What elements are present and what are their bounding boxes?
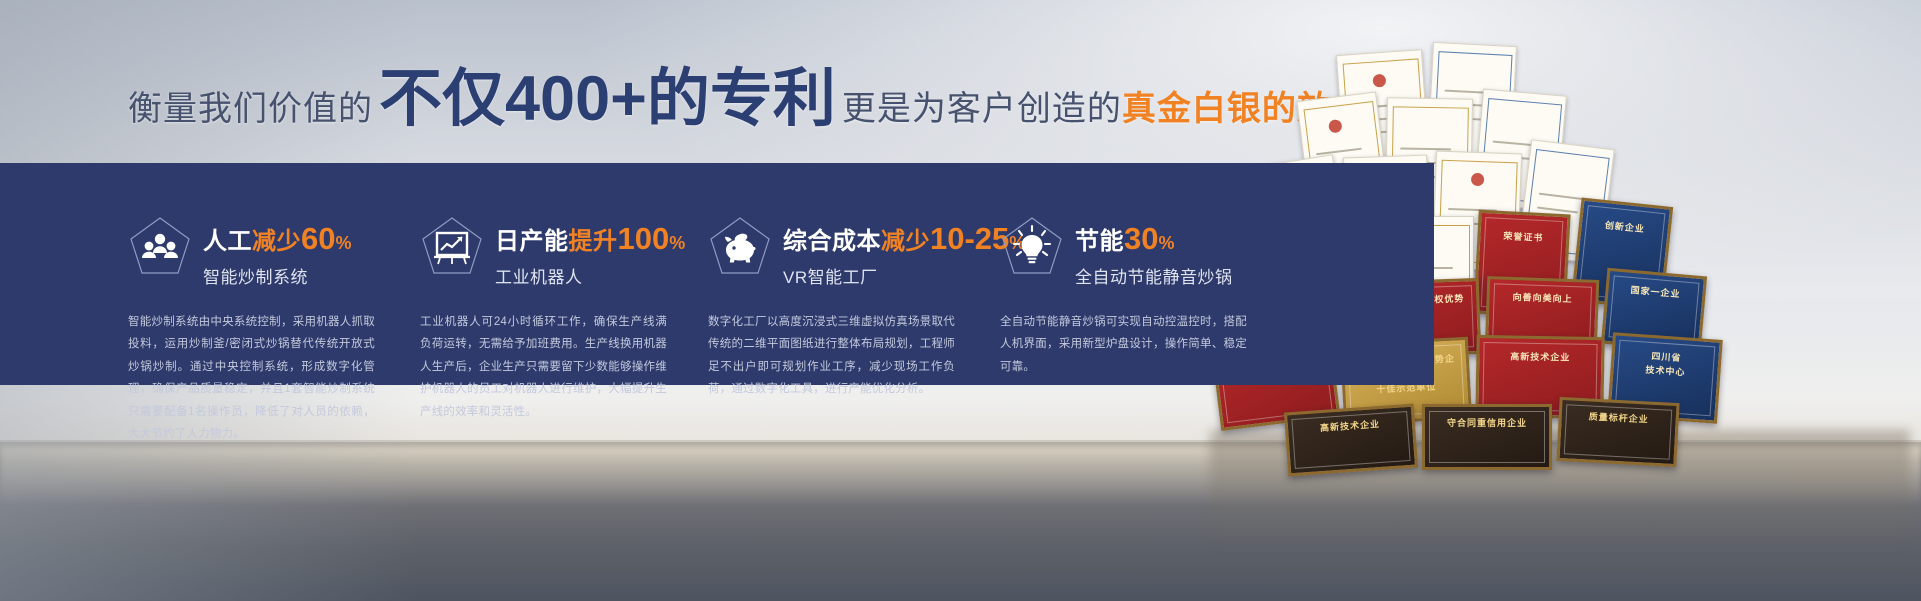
stat-prefix: 综合成本: [783, 228, 881, 255]
people-group-icon: [128, 215, 192, 279]
feature-subtitle: 工业机器人: [495, 263, 685, 288]
stat-unit: %: [1158, 233, 1174, 253]
page-headline: 衡量我们价值的 不仅400+的专利 更是为客户创造的 真金白银的效益: [128, 68, 1367, 131]
feature-body: 智能炒制系统由中央系统控制，采用机器人抓取投料，运用炒制釜/密闭式炒锅替代传统开…: [128, 311, 375, 446]
stat-accent: 减少: [252, 228, 301, 255]
feature-item-1: 人工减少60% 智能炒制系统 智能炒制系统由中央系统控制，采用机器人抓取投料，运…: [128, 163, 396, 385]
feature-item-3: 综合成本减少10-25% VR智能工厂 数字化工厂以高度沉浸式三维虚拟仿真场景取…: [708, 163, 976, 385]
chart-easel-icon: [420, 215, 484, 279]
award-plaque: 质量标杆企业: [1556, 397, 1679, 467]
stat-accent: 提升: [569, 228, 618, 255]
stat-prefix: 人工: [203, 228, 252, 255]
feature-item-4: 节能30% 全自动节能静音炒锅 全自动节能静音炒锅可实现自动控温控时，搭配人机界…: [1000, 163, 1268, 385]
features-panel: 人工减少60% 智能炒制系统 智能炒制系统由中央系统控制，采用机器人抓取投料，运…: [0, 163, 1434, 385]
feature-body: 数字化工厂以高度沉浸式三维虚拟仿真场景取代传统的二维平面图纸进行整体布局规划，工…: [708, 311, 955, 401]
stat-number: 100: [618, 221, 670, 256]
feature-subtitle: 全自动节能静音炒锅: [1075, 263, 1233, 288]
stat-prefix: 日产能: [495, 228, 569, 255]
stat-number: 10-25: [930, 221, 1009, 256]
lightbulb-icon: [1000, 215, 1064, 279]
stat-number: 60: [301, 221, 335, 256]
stat-accent: 减少: [881, 228, 930, 255]
feature-subtitle: 智能炒制系统: [203, 263, 352, 288]
stat-prefix: 节能: [1075, 228, 1124, 255]
stat-unit: %: [669, 233, 685, 253]
award-plaque: 守合同重信用企业: [1422, 404, 1552, 470]
award-plaque: 高新技术企业: [1284, 404, 1418, 477]
headline-mid: 更是为客户创造的: [842, 81, 1122, 130]
feature-stat: 节能30%: [1075, 223, 1233, 254]
headline-emphasis: 不仅400+的专利: [379, 68, 836, 131]
feature-subtitle: VR智能工厂: [783, 263, 1025, 288]
feature-stat: 人工减少60%: [203, 223, 352, 254]
stat-unit: %: [335, 233, 351, 253]
stat-number: 30: [1124, 221, 1158, 256]
feature-item-2: 日产能提升100% 工业机器人 工业机器人可24小时循环工作，确保生产线满负荷运…: [420, 163, 688, 385]
piggy-bank-icon: [708, 215, 772, 279]
feature-body: 全自动节能静音炒锅可实现自动控温控时，搭配人机界面，采用新型炉盘设计，操作简单、…: [1000, 311, 1247, 378]
feature-stat: 综合成本减少10-25%: [783, 223, 1025, 254]
headline-lead: 衡量我们价值的: [128, 81, 373, 130]
feature-body: 工业机器人可24小时循环工作，确保生产线满负荷运转，无需给予加班费用。生产线换用…: [420, 311, 667, 423]
feature-stat: 日产能提升100%: [495, 223, 685, 254]
